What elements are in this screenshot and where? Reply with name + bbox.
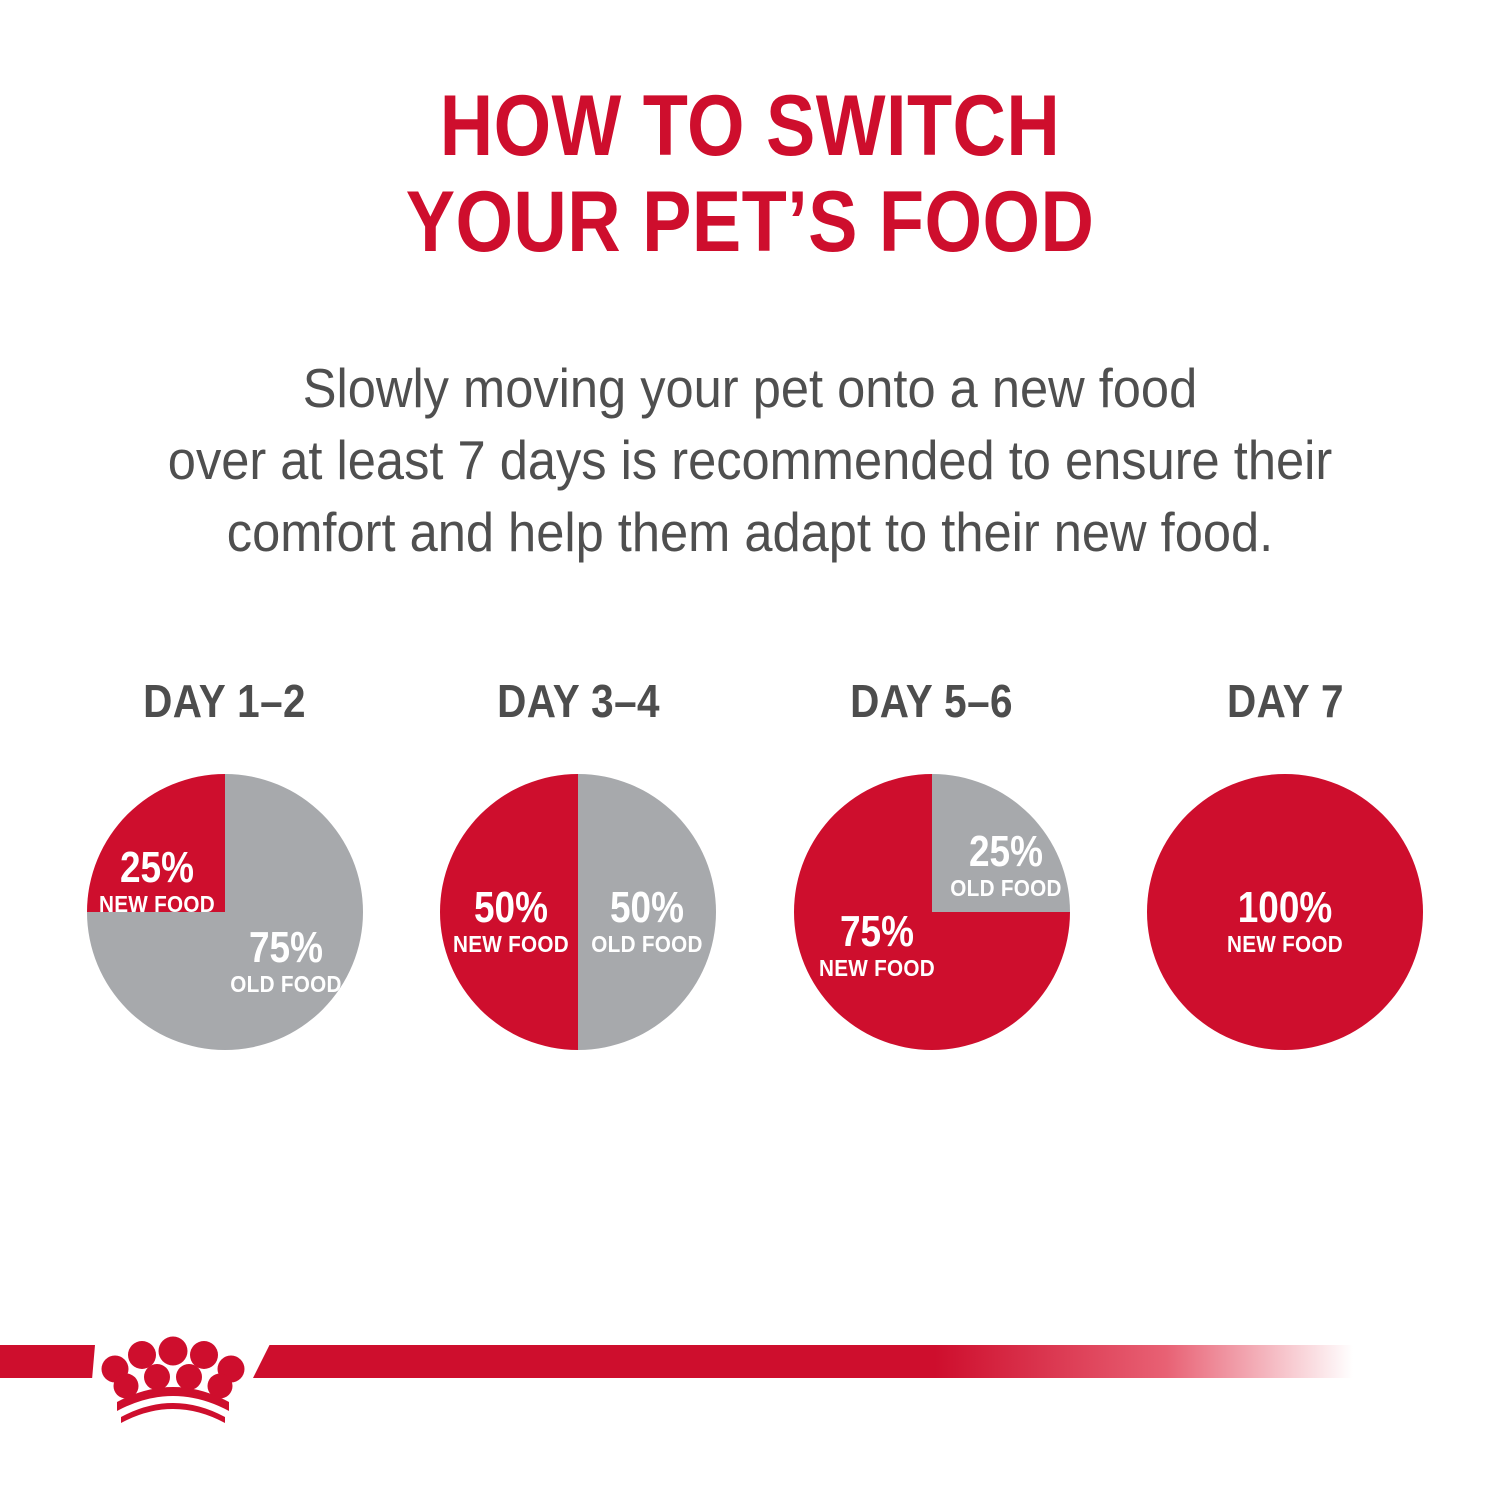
pie-svg-1 <box>81 768 369 1056</box>
day-label-2: DAY 3–4 <box>497 676 660 726</box>
intro-line-2: over at least 7 days is recommended to e… <box>60 424 1440 496</box>
pie-chart-day-5-6: 25% OLD FOOD 75% NEW FOOD <box>788 768 1076 1056</box>
title-line-2: YOUR PET’S FOOD <box>105 174 1395 270</box>
pie-chart-day-3-4: 50% NEW FOOD 50% OLD FOOD <box>434 768 722 1056</box>
title-line-1: HOW TO SWITCH <box>105 78 1395 174</box>
infographic-canvas: HOW TO SWITCH YOUR PET’S FOOD Slowly mov… <box>0 0 1500 1500</box>
royal-canin-crown-logo <box>95 1313 251 1423</box>
pie-chart-day-7: 100% NEW FOOD <box>1141 768 1429 1056</box>
footer-brand-bar <box>0 1345 1500 1475</box>
pie-cell-day-1-2: DAY 1–2 25% NEW FOOD 75% OLD FOOD <box>60 676 390 1056</box>
pie-svg-4 <box>1141 768 1429 1056</box>
slice-new-food-1 <box>87 774 225 912</box>
pie-chart-day-1-2: 25% NEW FOOD 75% OLD FOOD <box>81 768 369 1056</box>
pie-cell-day-7: DAY 7 100% NEW FOOD <box>1120 676 1450 1056</box>
intro-paragraph: Slowly moving your pet onto a new food o… <box>0 352 1500 568</box>
brand-bar-left-segment <box>0 1345 95 1378</box>
slice-old-food-2 <box>578 774 716 1050</box>
crown-dot-bottom-3 <box>176 1364 202 1390</box>
page-title: HOW TO SWITCH YOUR PET’S FOOD <box>0 78 1500 270</box>
day-label-3: DAY 5–6 <box>850 676 1013 726</box>
day-label-1: DAY 1–2 <box>144 676 307 726</box>
slice-new-food-2 <box>440 774 578 1050</box>
day-label-4: DAY 7 <box>1226 676 1343 726</box>
slice-new-food-4 <box>1147 774 1423 1050</box>
crown-arc-lower <box>121 1403 225 1423</box>
crown-dot-top-4 <box>190 1341 218 1369</box>
crown-icon <box>95 1313 251 1423</box>
crown-dot-top-3 <box>159 1337 188 1366</box>
pie-cell-day-5-6: DAY 5–6 25% OLD FOOD 75% NEW FOOD <box>767 676 1097 1056</box>
pie-chart-row: DAY 1–2 25% NEW FOOD 75% OLD FOOD <box>60 676 1450 1096</box>
pie-svg-2 <box>434 768 722 1056</box>
pie-svg-3 <box>788 768 1076 1056</box>
intro-line-1: Slowly moving your pet onto a new food <box>60 352 1440 424</box>
pie-cell-day-3-4: DAY 3–4 50% NEW FOOD 50% OLD FOOD <box>413 676 743 1056</box>
crown-dot-bottom-2 <box>144 1364 170 1390</box>
crown-dot-top-2 <box>128 1341 156 1369</box>
slice-old-food-3 <box>932 774 1070 912</box>
brand-bar-right-segment <box>253 1345 1353 1378</box>
intro-line-3: comfort and help them adapt to their new… <box>60 496 1440 568</box>
